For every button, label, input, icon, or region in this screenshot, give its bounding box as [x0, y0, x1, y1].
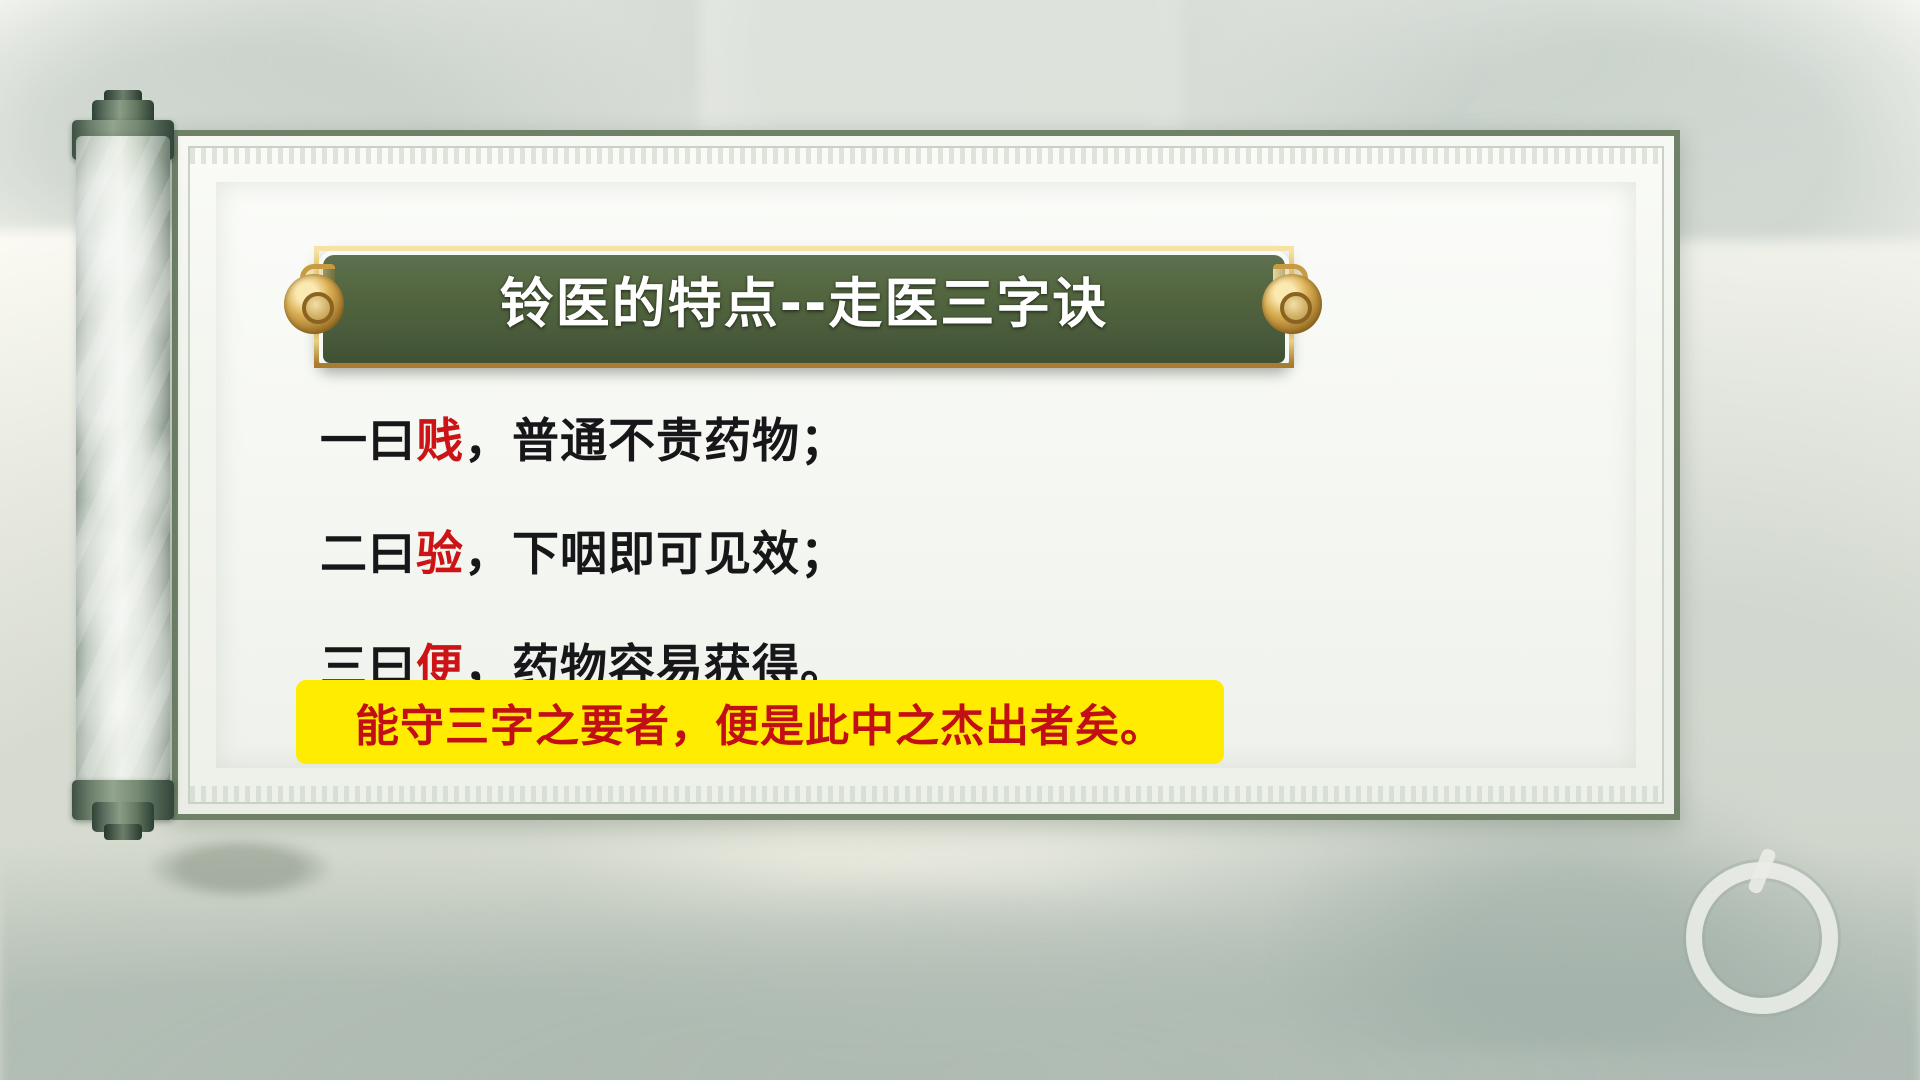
body-line-2-suffix: ，下咽即可见效；: [464, 527, 848, 582]
paper-drop-shadow: [150, 838, 330, 898]
body-line-2-keyword: 验: [416, 527, 464, 582]
title-banner: 铃医的特点--走医三字诀: [278, 250, 1330, 358]
banner-ornament-right-icon: [1256, 268, 1330, 342]
scroll-paper: 铃医的特点--走医三字诀 一曰贱，普通不贵药物；: [172, 130, 1680, 820]
highlight-text: 能守三字之要者，便是此中之杰出者矣。: [355, 690, 1165, 754]
highlight-banner: 能守三字之要者，便是此中之杰出者矣。: [296, 680, 1224, 764]
page-title: 铃医的特点--走医三字诀: [278, 250, 1330, 358]
body-line-1-keyword: 贱: [416, 414, 464, 469]
roller-body: [76, 136, 170, 798]
ink-wash-bottom: [0, 790, 1920, 1080]
body-line-2: 二曰验，下咽即可见效；: [320, 515, 1546, 584]
scroll-paper-field: 铃医的特点--走医三字诀 一曰贱，普通不贵药物；: [216, 182, 1636, 768]
body-line-2-prefix: 二曰: [320, 527, 416, 582]
body-line-1-prefix: 一曰: [320, 414, 416, 469]
body-line-1: 一曰贱，普通不贵药物；: [320, 402, 1546, 471]
roller-finial-bottom: [104, 824, 142, 840]
banner-ornament-left-icon: [278, 268, 352, 342]
scroll-paper-border: 铃医的特点--走医三字诀 一曰贱，普通不贵药物；: [188, 146, 1664, 804]
slide-canvas: 铃医的特点--走医三字诀 一曰贱，普通不贵药物；: [0, 0, 1920, 1080]
body-line-1-suffix: ，普通不贵药物；: [464, 414, 848, 469]
scroll-roller-left: [62, 96, 182, 836]
ring-watermark-icon: [1686, 862, 1838, 1014]
